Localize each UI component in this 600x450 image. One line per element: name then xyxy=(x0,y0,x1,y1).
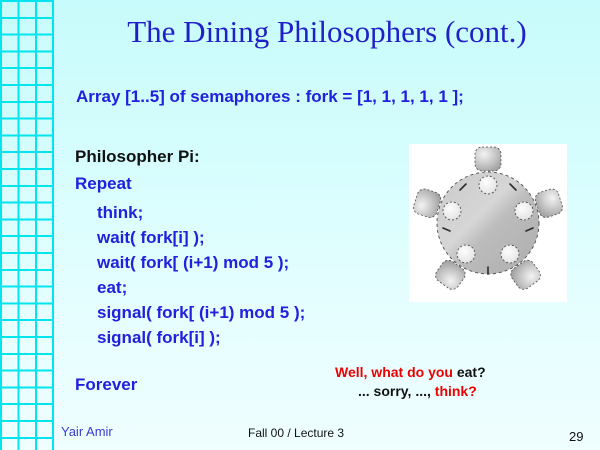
joke-line-2: ... sorry, ..., think? xyxy=(330,382,580,401)
code-line: wait( fork[i] ); xyxy=(97,225,305,250)
forever-keyword-line: Forever xyxy=(75,374,137,395)
repeat-keyword-line: Repeat xyxy=(75,173,132,194)
plate-3 xyxy=(501,245,519,263)
footer-course: Fall 00 / Lecture 3 xyxy=(248,425,344,441)
footer-page-number: 29 xyxy=(569,429,583,445)
page-title: The Dining Philosophers (cont.) xyxy=(54,14,600,50)
footer-author: Yair Amir xyxy=(61,424,113,440)
code-line: signal( fork[ (i+1) mod 5 ); xyxy=(97,300,305,325)
joke-line-1: Well, what do you eat? xyxy=(330,363,580,382)
dining-table-illustration xyxy=(409,144,567,302)
decorative-grid-strip xyxy=(0,0,54,450)
plate-4 xyxy=(457,245,475,263)
joke-line-2-red: think? xyxy=(435,383,477,399)
code-line: think; xyxy=(97,200,305,225)
plate-5 xyxy=(443,202,461,220)
dining-table-svg xyxy=(409,144,567,302)
plate-1 xyxy=(479,176,497,194)
code-line: signal( fork[i] ); xyxy=(97,325,305,350)
joke-line-1-black: eat? xyxy=(457,364,486,380)
joke-line-1-red: Well, what do you xyxy=(335,364,457,380)
code-line: wait( fork[ (i+1) mod 5 ); xyxy=(97,250,305,275)
joke-annotation: Well, what do you eat? ... sorry, ..., t… xyxy=(330,363,580,401)
decorative-grid-edge xyxy=(52,0,54,450)
procedure-header-line: Philosopher Pi: xyxy=(75,146,200,167)
semaphore-declaration-line: Array [1..5] of semaphores : fork = [1, … xyxy=(76,86,464,107)
joke-line-2-black: ... sorry, ..., xyxy=(358,383,435,399)
pseudocode-block: think; wait( fork[i] ); wait( fork[ (i+1… xyxy=(97,200,305,350)
code-line: eat; xyxy=(97,275,305,300)
chair-1 xyxy=(475,147,501,171)
plate-2 xyxy=(515,202,533,220)
slide-canvas: The Dining Philosophers (cont.) Array [1… xyxy=(0,0,600,450)
